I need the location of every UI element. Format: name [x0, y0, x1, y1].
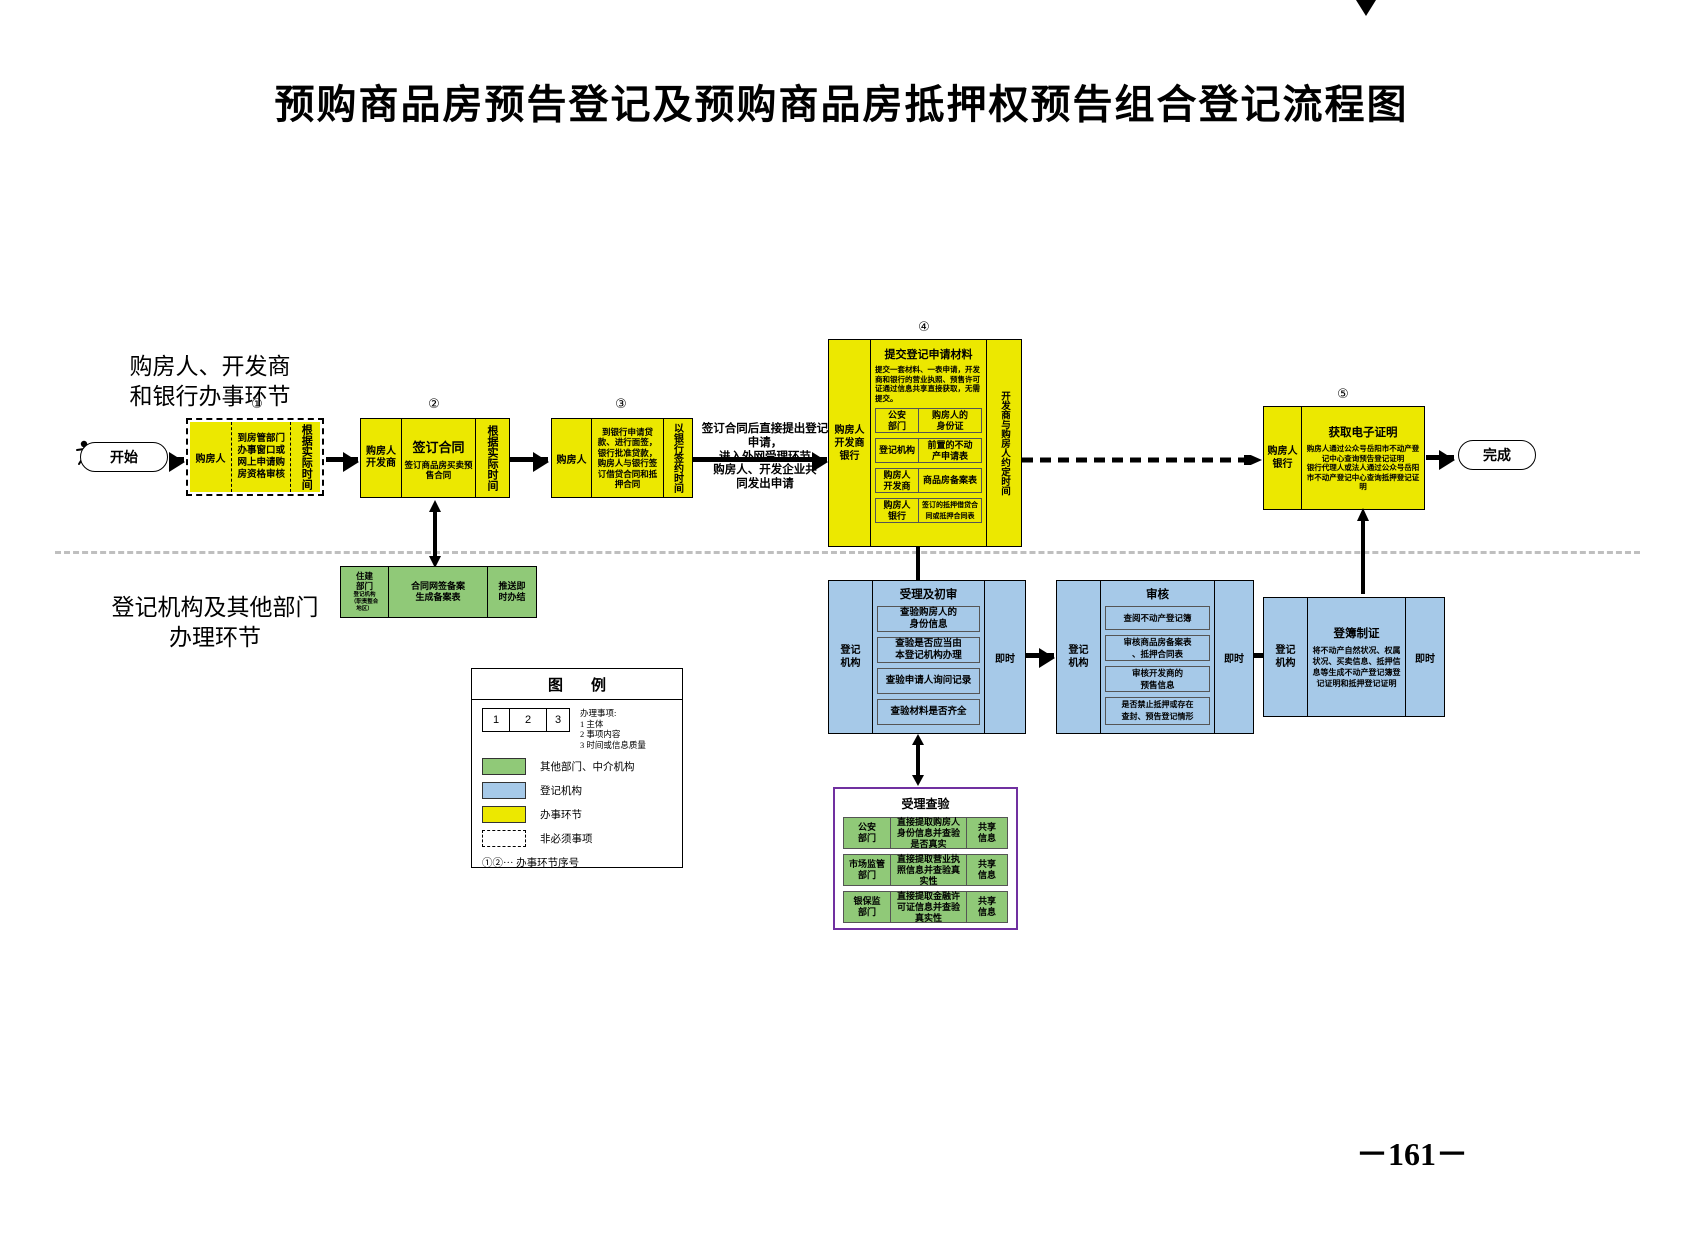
arrow-accept-to-inspection: [911, 734, 925, 786]
legend-title-2: 例: [591, 674, 606, 695]
accept-time: 即时: [985, 581, 1025, 733]
legend-title-1: 图: [548, 674, 563, 695]
step-1-dashed-wrapper: ① 购房人 到房管部门办事窗口或网上申请购房资格审核 根据实际时间: [186, 418, 324, 496]
step-4-row-item: 前置的不动 产申请表: [919, 438, 982, 463]
certificate-time: 即时: [1406, 598, 1444, 716]
legend-cells-note: 办理事项: 1 主体 2 事项内容 3 时间或信息质量: [580, 708, 646, 750]
legend-cell-3: 3: [547, 709, 569, 731]
inspection-desc: 直接提取营业执 照信息并查验真 实性: [891, 854, 967, 886]
step-1-subject: 购房人: [190, 422, 232, 492]
step-5-number: ⑤: [1263, 386, 1423, 402]
inspection-dept: 公安 部门: [843, 817, 891, 849]
step-4-row-dept: 购房人 银行: [875, 498, 919, 523]
inspection-desc: 直接提取购房人 身份信息并查验 是否真实: [891, 817, 967, 849]
housing-subject-sub: 登记机构 （职责整合 地区）: [351, 592, 379, 613]
certificate-content: 将不动产自然状况、权属状况、买卖信息、抵押信息等生成不动产登记簿登记证明和抵押登…: [1312, 645, 1401, 689]
step-5-content: 购房人通过公众号岳阳市不动产登记中心查询预告登记证明 银行代理人或法人通过公众号…: [1306, 444, 1420, 492]
legend: 图 例 1 2 3 办理事项: 1 主体 2 事项内容 3 时间或信息质量 其他…: [471, 668, 683, 868]
certificate-subject: 登记 机构: [1264, 598, 1308, 716]
step-4-row-dept: 购房人 开发商: [875, 468, 919, 493]
legend-cell-2: 2: [510, 709, 547, 731]
housing-time: 推送即 时办结: [488, 567, 536, 617]
step-4-number: ④: [828, 319, 1020, 335]
inspection-row: 银保监 部门 直接提取金融许 可证信息并查验 真实性 共享 信息: [843, 891, 1008, 923]
accept-item: 查验是否应当由 本登记机构办理: [877, 637, 980, 663]
review-item: 查阅不动产登记簿: [1105, 606, 1210, 630]
inspection-row: 公安 部门 直接提取购房人 身份信息并查验 是否真实 共享 信息: [843, 817, 1008, 849]
step-3-number: ③: [551, 396, 691, 412]
arrow-step4-to-step5: [1022, 452, 1262, 462]
review-time: 即时: [1215, 581, 1253, 733]
arrow-start-to-step1: [170, 457, 184, 462]
step-2: ② 购房人 开发商 签订合同 签订商品房买卖预售合同 根据实际时间: [360, 418, 508, 496]
step-2-title: 签订合同: [412, 437, 464, 456]
step-4-row-item: 购房人的 身份证: [919, 408, 982, 433]
step-2-number: ②: [360, 396, 508, 412]
inspection-desc: 直接提取金融许 可证信息并查验 真实性: [891, 891, 967, 923]
step-4-table: 公安 部门 购房人的 身份证 登记机构 前置的不动 产申请表 购房人 开发商 商…: [875, 408, 982, 523]
step-4-row-item: 签订的抵押借贷合 同或抵押合同表: [919, 498, 982, 523]
step-3-content: 到银行申请贷款、进行面签，银行批准贷款，购房人与银行签订借贷合同和抵押合同: [592, 419, 664, 497]
inspection-mode: 共享 信息: [967, 817, 1008, 849]
step-4-subject: 购房人 开发商 银行: [829, 340, 871, 546]
accept-preliminary-review-box: 登记 机构 受理及初审 查验购房人的 身份信息 查验是否应当由 本登记机构办理 …: [828, 580, 1024, 732]
legend-label-service: 办事环节: [540, 807, 582, 822]
legend-note-3: 3 时间或信息质量: [580, 740, 646, 751]
connector-label-below-line1: 购房人、开发企业共: [700, 463, 830, 477]
step-1-time: 根据实际时间: [291, 422, 320, 492]
page-number: －161－: [1356, 1129, 1468, 1175]
legend-swatch-service: [482, 806, 526, 823]
step-4-table-row: 公安 部门 购房人的 身份证: [875, 408, 982, 433]
housing-subject: 住建 部门: [356, 571, 373, 591]
review-item: 是否禁止抵押或存在 查封、预告登记情形: [1105, 697, 1210, 725]
step-3-subject: 购房人: [552, 419, 592, 497]
step-4: ④ 购房人 开发商 银行 提交登记申请材料 提交一套材料、一表申请，开发商和银行…: [828, 339, 1020, 545]
arrow-step1-to-step2: [326, 457, 358, 462]
step-4-time: 开发商与购房人约定时间: [987, 340, 1021, 546]
accept-item: 查验申请人询问记录: [877, 668, 980, 694]
inspection-row: 市场监管 部门 直接提取营业执 照信息并查验真 实性 共享 信息: [843, 854, 1008, 886]
arrow-accept-to-review: [1026, 653, 1054, 658]
step-2-content: 签订商品房买卖预售合同: [404, 460, 473, 480]
step-4-content: 提交一套材料、一表申请，开发商和银行的营业执照、预售许可证通过信息共享直接获取，…: [875, 365, 982, 403]
accept-subject: 登记 机构: [829, 581, 873, 733]
step-5-subject: 购房人 银行: [1264, 407, 1302, 509]
step-4-row-dept: 登记机构: [875, 438, 919, 463]
step-2-time: 根据实际时间: [476, 419, 508, 497]
start-terminal: 开始: [80, 442, 168, 472]
step-3-time: 以银行签约时间: [664, 419, 690, 497]
review-item: 审核开发商的 预售信息: [1105, 666, 1210, 692]
lane-label-bottom: 登记机构及其他部门 办理环节: [85, 593, 345, 653]
end-terminal: 完成: [1458, 440, 1536, 470]
connector-label-below: 购房人、开发企业共 同发出申请: [700, 463, 830, 491]
housing-construction-box: 住建 部门 登记机构 （职责整合 地区） 合同网签备案 生成备案表 推送即 时办…: [340, 566, 535, 616]
step-3: ③ 购房人 到银行申请贷款、进行面签，银行批准贷款，购房人与银行签订借贷合同和抵…: [551, 418, 691, 496]
inspection-dept: 市场监管 部门: [843, 854, 891, 886]
lane-divider: [55, 551, 1640, 554]
inspection-title: 受理查验: [843, 795, 1008, 812]
review-box: 登记 机构 审核 查阅不动产登记簿 审核商品房备案表 、抵押合同表 审核开发商的…: [1056, 580, 1252, 732]
step-1-number: ①: [190, 396, 324, 412]
arrow-step5-to-end: [1426, 455, 1454, 460]
legend-entry: 办事环节: [482, 806, 672, 823]
inspection-box: 受理查验 公安 部门 直接提取购房人 身份信息并查验 是否真实 共享 信息 市场…: [833, 787, 1018, 930]
legend-entry: 登记机构: [482, 782, 672, 799]
step-5-title: 获取电子证明: [1329, 424, 1398, 440]
inspection-dept: 银保监 部门: [843, 891, 891, 923]
step-4-row-dept: 公安 部门: [875, 408, 919, 433]
step-4-table-row: 登记机构 前置的不动 产申请表: [875, 438, 982, 463]
step-1-content: 到房管部门办事窗口或网上申请购房资格审核: [232, 422, 291, 492]
legend-label-dashed: 非必须事项: [540, 831, 593, 846]
connector-label-below-line2: 同发出申请: [700, 477, 830, 491]
legend-swatch-dashed: [482, 830, 526, 847]
accept-item: 查验材料是否齐全: [877, 699, 980, 725]
lane-label-bottom-line2: 办理环节: [85, 623, 345, 653]
accept-item: 查验购房人的 身份信息: [877, 606, 980, 632]
legend-cell-1: 1: [483, 709, 510, 731]
page-title: 预购商品房预告登记及预购商品房抵押权预告组合登记流程图: [0, 72, 1683, 130]
review-item: 审核商品房备案表 、抵押合同表: [1105, 635, 1210, 661]
housing-content: 合同网签备案 生成备案表: [389, 567, 488, 617]
step-4-title: 提交登记申请材料: [885, 346, 973, 362]
lane-label-bottom-line1: 登记机构及其他部门: [85, 593, 345, 623]
step-4-table-row: 购房人 银行 签订的抵押借贷合 同或抵押合同表: [875, 498, 982, 523]
certificate-title: 登簿制证: [1334, 625, 1380, 641]
connector-label-above: 签订合同后直接提出登记申请， 进入外网受理环节: [700, 422, 830, 464]
legend-label-registry: 登记机构: [540, 783, 582, 798]
accept-title: 受理及初审: [900, 586, 958, 602]
lane-label-top-line1: 购房人、开发商: [90, 352, 330, 382]
legend-label-other-dept: 其他部门、中介机构: [540, 759, 635, 774]
review-title: 审核: [1146, 586, 1169, 602]
legend-swatch-registry: [482, 782, 526, 799]
legend-entry-dashed: 非必须事项: [482, 830, 672, 847]
arrow-step2-to-step3: [510, 457, 548, 462]
inspection-mode: 共享 信息: [967, 854, 1008, 886]
step-4-row-item: 商品房备案表: [919, 468, 982, 493]
legend-note-1: 1 主体: [580, 719, 646, 730]
legend-sample-cells: 1 2 3: [482, 708, 570, 732]
arrow-step2-to-housing: [428, 500, 442, 568]
arrow-certificate-to-step5: [1356, 508, 1370, 594]
certificate-box: 登记 机构 登簿制证 将不动产自然状况、权属状况、买卖信息、抵押信息等生成不动产…: [1263, 597, 1443, 715]
legend-swatch-other-dept: [482, 758, 526, 775]
step-2-subject: 购房人 开发商: [361, 419, 402, 497]
legend-entry: 其他部门、中介机构: [482, 758, 672, 775]
connector-label-above-line1: 签订合同后直接提出登记申请，: [700, 422, 830, 450]
legend-note-title: 办理事项:: [580, 708, 646, 719]
connector-label-above-line2: 进入外网受理环节: [700, 450, 830, 464]
review-subject: 登记 机构: [1057, 581, 1101, 733]
inspection-mode: 共享 信息: [967, 891, 1008, 923]
step-5: ⑤ 购房人 银行 获取电子证明 购房人通过公众号岳阳市不动产登记中心查询预告登记…: [1263, 406, 1423, 508]
legend-label-circled: ①②··· 办事环节序号: [482, 855, 672, 870]
legend-note-2: 2 事项内容: [580, 729, 646, 740]
step-4-table-row: 购房人 开发商 商品房备案表: [875, 468, 982, 493]
